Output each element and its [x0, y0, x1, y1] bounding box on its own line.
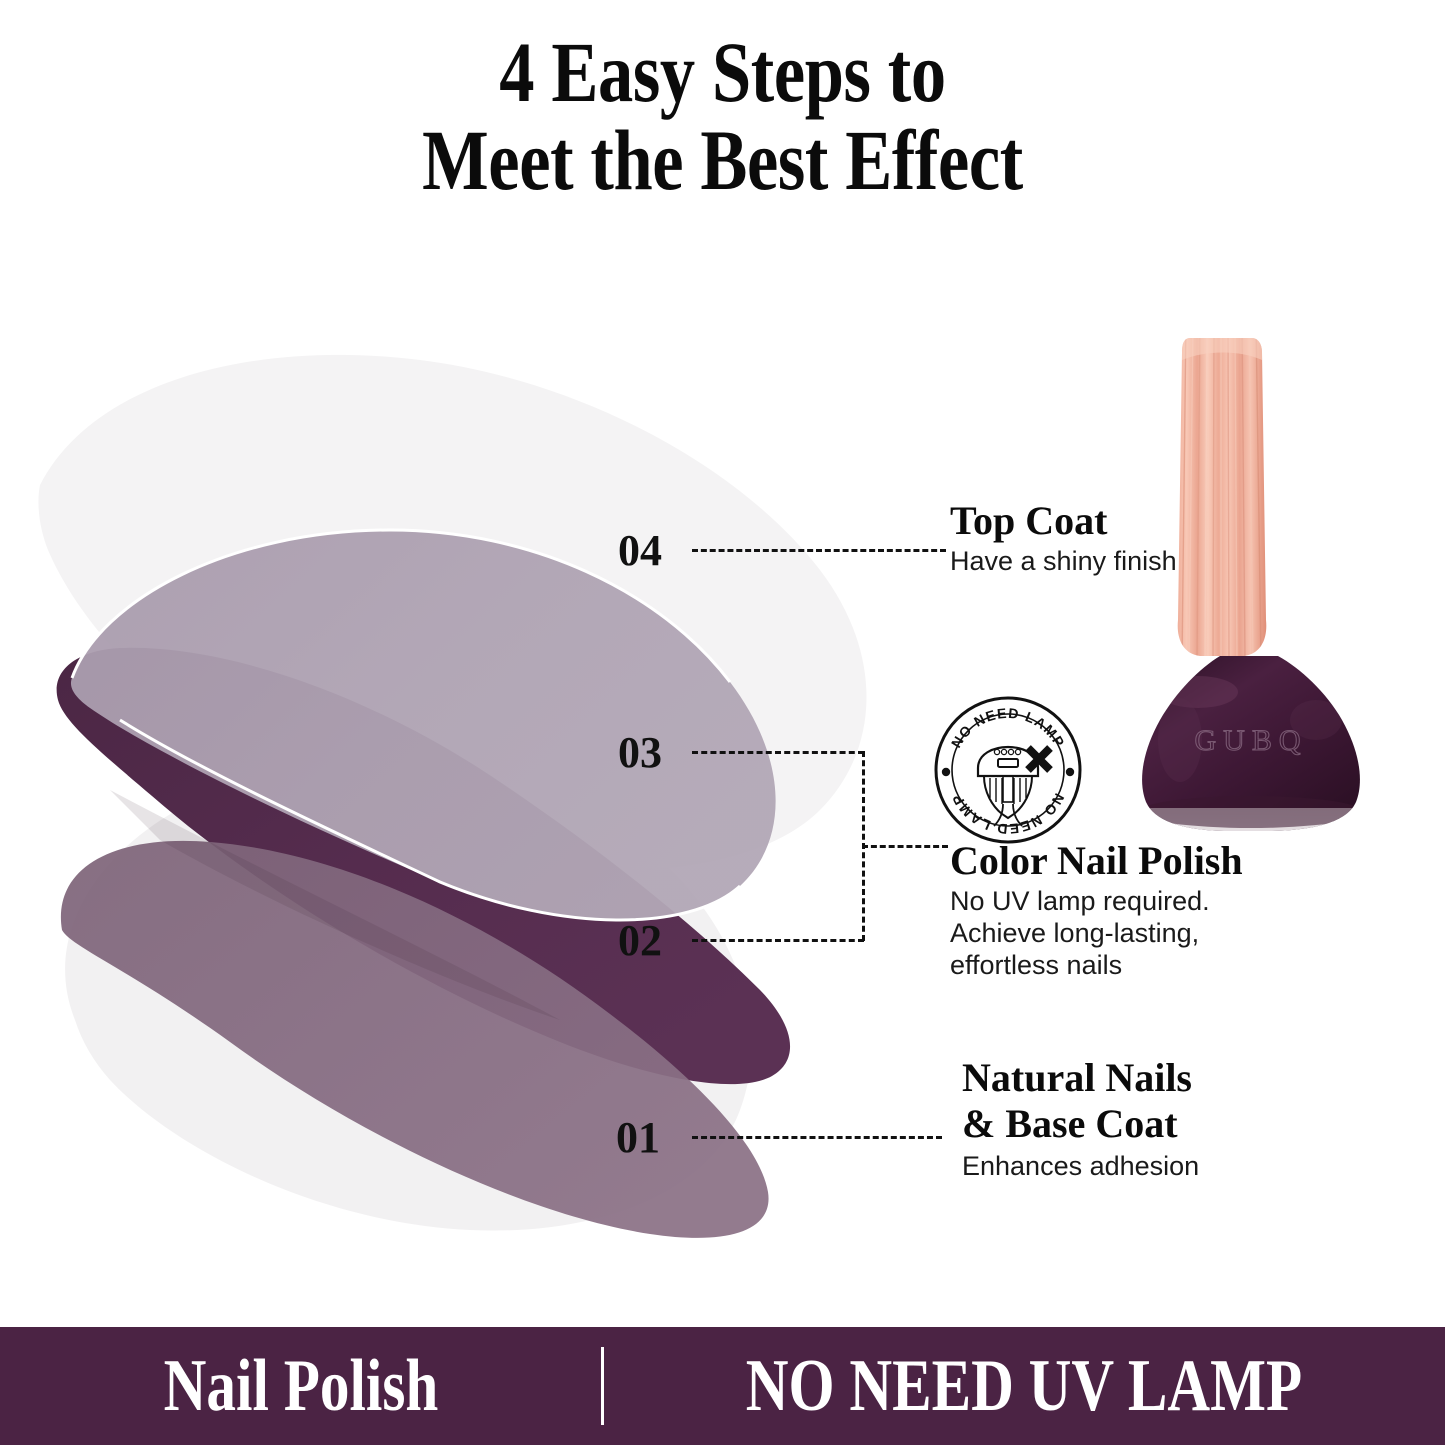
bottle-cap	[1178, 320, 1267, 660]
page-title-line-2: Meet the Best Effect	[130, 116, 1315, 204]
banner-right-cell: NO NEED UV LAMP	[604, 1347, 1444, 1425]
no-need-lamp-badge-icon: NO NEED LAMP NO NEED LAMP	[932, 694, 1084, 846]
callout-base-subtext: Enhances adhesion	[962, 1150, 1199, 1182]
callout-base-heading-2: & Base Coat	[962, 1101, 1199, 1147]
page-title-line-1: 4 Easy Steps to	[130, 28, 1315, 116]
bottom-banner: Nail Polish NO NEED UV LAMP	[0, 1327, 1445, 1445]
banner-right-text: NO NEED UV LAMP	[688, 1347, 1360, 1425]
callout-color-subtext-2: Achieve long-lasting,	[950, 917, 1243, 949]
step-number-04: 04	[618, 525, 662, 576]
connector-line-03	[692, 751, 864, 754]
connector-line-01	[692, 1136, 942, 1139]
step-number-03: 03	[618, 727, 662, 778]
callout-color-nail-polish: Color Nail Polish No UV lamp required. A…	[950, 840, 1243, 981]
step-number-01: 01	[616, 1112, 660, 1163]
callout-base-heading-1: Natural Nails	[962, 1055, 1199, 1101]
nail-polish-bottle-image: GUBQ	[1120, 320, 1400, 850]
connector-line-04	[692, 549, 946, 552]
bottle-brand-label: GUBQ	[1194, 724, 1307, 757]
nail-layers-illustration	[0, 230, 900, 1250]
banner-left-text: Nail Polish	[61, 1347, 541, 1425]
connector-line-02	[692, 939, 864, 942]
callout-natural-nails-base-coat: Natural Nails & Base Coat Enhances adhes…	[962, 1055, 1199, 1182]
page-title: 4 Easy Steps to Meet the Best Effect	[0, 28, 1445, 204]
callout-color-subtext-1: No UV lamp required.	[950, 885, 1243, 917]
banner-left-cell: Nail Polish	[1, 1347, 601, 1425]
step-number-02: 02	[618, 915, 662, 966]
bottle-body: GUBQ	[1120, 656, 1400, 848]
callout-color-subtext-3: effortless nails	[950, 949, 1243, 981]
